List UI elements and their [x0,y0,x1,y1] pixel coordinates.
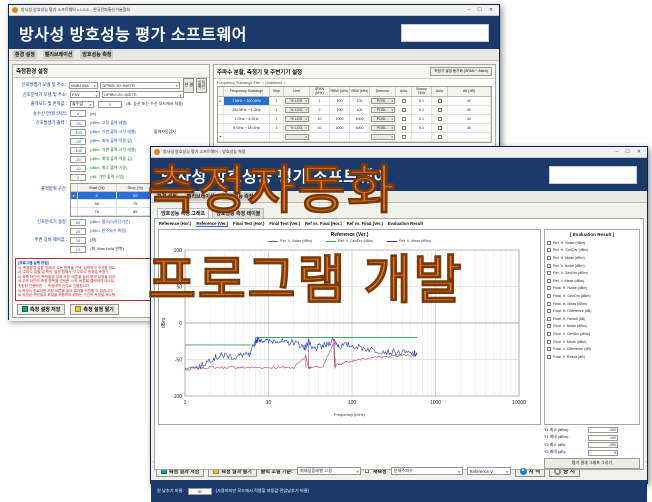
measurement-chart[interactable]: Reference (Ver.) Ref. V_Noise (dBm) Ref.… [158,229,541,425]
power-stepper-6[interactable]: 2 [70,174,86,181]
cell-auto1-checkbox[interactable] [402,117,406,121]
power-note-0: (dBm. 고정 출력 레벨) [90,120,127,126]
open-folder-icon [75,306,81,312]
window1-title-text: 방사성 방호성능 평가 소프트웨어 v.1.0.6 :: 한국전파통신기술협회 [21,7,468,13]
axis-row-y1-max: Y1 최대 (dBm): 100 [544,435,640,441]
cell-rbw: 100 [330,106,350,114]
evaluation-checkbox-row[interactable]: Ref. H. GenDrv (dBm) [547,247,637,255]
evaluation-checkbox[interactable] [547,286,551,290]
play-icon [520,468,527,475]
cell-step: 1 [270,97,284,105]
label-tail-2: 주변 장비 제어값 : [16,237,70,243]
evaluation-checkbox[interactable] [547,241,551,245]
evaluation-checkbox[interactable] [547,302,551,306]
cell-att: 40 [448,106,491,114]
cell-unit-select[interactable] [285,134,309,140]
cell-span: 1 [310,97,330,105]
frequency-range-select[interactable]: 전체주파수 [391,467,463,475]
evaluation-checkbox-row[interactable]: Final. V. Difference (dB) [547,345,637,353]
cell-auto1-checkbox[interactable] [402,99,406,103]
evaluation-checkbox[interactable] [547,264,551,268]
power-stepper-0[interactable]: -20 [70,120,86,127]
evaluation-checkbox-label: Ref. V. Meas (dBm) [553,279,584,283]
open-settings-label: 측정 설정 열기 [83,306,113,313]
header-logo-box [401,24,489,42]
power-note-5: (dBm. 최소 출력 기준) [90,165,127,171]
status-input[interactable]: 30 [188,488,212,495]
tail-note-0: (dBm. 펄스(0)차단기순) [90,219,130,225]
evaluation-checkbox-row[interactable]: Final. H. GenDrv (dBm) [547,292,637,300]
frequency-table-header: Frequency Subrange Step Unit SPAN (kHz) … [218,87,491,97]
header-step: Step [270,87,284,96]
power-stepper-4[interactable]: -20 [70,156,86,163]
range-header-start: Start (%) [78,184,117,191]
subtab-reference-ver[interactable]: Reference (Ver.) [196,221,228,227]
svg-text:50: 50 [176,285,182,291]
cell-unit-select[interactable]: % LOG [285,116,309,122]
output-mode-note: (초. 승산 또는 수신 모드에서 적용) [126,101,183,107]
power-stepper-5[interactable]: -10 [70,165,86,172]
axis-row-y2-min: Y2 최소 (dB): -200 [544,442,640,448]
evaluation-checkbox-row[interactable]: Final. V. GenDrv (dBm) [547,330,637,338]
evaluation-checkbox[interactable] [547,248,551,252]
cell-unit-select[interactable]: % LOG [285,98,309,104]
evaluation-checkbox[interactable] [547,279,551,283]
close-icon[interactable]: ✕ [637,150,641,155]
cell-auto1-checkbox[interactable] [402,135,406,139]
table-row[interactable]: 1 GHz ~ 6 GHz 1 % LOG 10 1000 1000 POSI.… [218,115,491,124]
cell-unit-select[interactable]: % LOG [285,125,309,131]
graph-subtabs[interactable]: Reference (Hor.) Reference (Ver.) Final … [155,219,643,229]
evaluation-checkbox-label: Final. H. Result (dB) [553,317,585,321]
cell-auto2-checkbox[interactable] [438,108,442,112]
svg-text:100: 100 [348,400,357,406]
evaluation-result-panel: [ Evaluation Result ] Ref. H. Noise (dBm… [544,229,640,425]
chart-plot-area: 110100100010000-100-50050100dBm [159,244,527,414]
minimize-icon[interactable]: – [468,8,471,13]
evaluation-checkbox[interactable] [547,309,551,313]
cell-vbw: 1000 [350,124,370,132]
axis-row-y2-max: Y2 최대 (dB): 0 [544,450,640,456]
power-stepper-3[interactable]: -100 [70,147,86,154]
subrange-file-label: Frequency Subrange File: < Undefined > [214,79,495,86]
cell-unit-select[interactable]: % LOG [285,107,309,113]
evaluation-header: [ Evaluation Result ] [547,232,637,237]
label-signal-analyzer: 신호분석기 모델 및 주소: [16,92,70,98]
evaluation-checkbox-row[interactable]: Ref. V. GenDrv (dBm) [547,269,637,277]
power-note-6: (dB. 가변 출력 스텝) [90,174,124,180]
power-stepper-1[interactable]: -100 [70,129,86,136]
tail-note-3: (회. Max Hold 반복) [90,246,124,252]
svg-text:1: 1 [184,400,187,406]
evaluation-checkbox[interactable] [547,294,551,298]
evaluation-checkbox-label: Final. V. Meas (dBm) [553,340,586,344]
signal-generator-model-select[interactable]: SMB100A [69,82,98,89]
status-bar: 원 낮추기 비율: 30 (사용하지만 모드에서 적용할 자동값 전압낮추기 비… [151,480,647,502]
evaluation-checkbox[interactable] [547,340,551,344]
cell-rbw: 100 [330,97,350,105]
header-logo-box [549,166,637,184]
header-unit: Unit [284,87,310,96]
svg-text:0: 0 [179,321,182,327]
cell-att: 40 [448,97,491,105]
evaluation-checkbox[interactable] [547,256,551,260]
signal-generator-address-select[interactable]: GPIB0::30::INSTR [100,82,180,89]
left-panel-title: 측정환경 설정 [13,65,209,78]
subtab-ref-vs-final-hor[interactable]: Ref vs. Final (Hor.) [305,221,342,227]
label-antenna-distance: 송수신 안테나거리: [16,111,70,117]
evaluation-checkbox-label: Ref. H. Noise (dBm) [553,241,585,245]
device-check-button[interactable]: 동작확인 [196,78,207,93]
right-panel-header: 주파수 분할, 측정기 및 주변기기 설정 측정기 설정 동기화 (SPAN ~… [214,65,495,79]
header-att: Att (dB) [448,87,491,96]
cell-rbw: 1000 [330,115,350,123]
evaluation-checkbox-label: Ref. V. GenDrv (dBm) [553,271,588,275]
evaluation-checkbox-label: Final. H. Meas (dBm) [553,302,587,306]
header-auto2: Auto [432,87,448,96]
range-table-header: Start (%) Stop (%) [71,184,155,192]
tail-stepper-2[interactable]: 10 [70,237,86,244]
status-label: 원 낮추기 비율: [157,488,184,494]
evaluation-checkbox-row[interactable]: Final. V. Result (dB) [547,353,637,361]
evaluation-checkbox-label: Final. V. GenDrv (dBm) [553,332,590,336]
tail-stepper-1[interactable]: 20 [70,228,86,235]
cell-span: 10 [310,115,330,123]
evaluation-checkbox-row[interactable]: Final. V. Meas (dBm) [547,338,637,346]
row-antenna-distance: 송수신 안테나거리: 4 (m) [16,110,207,119]
right-panel-title: 주파수 분할, 측정기 및 주변기기 설정 [217,68,302,76]
range-table-row[interactable]: ▸ 0 50 [71,192,155,200]
range-table-row[interactable]: 75 85 [71,208,155,216]
sync-settings-button[interactable]: 측정기 설정 동기화 (SPAN ~ Atten) [430,67,492,76]
evaluation-checkbox-label: Final. H. GenDrv (dBm) [553,294,591,298]
tab-measurement-table[interactable]: 방호성능 측정 테이블 [212,208,264,218]
output-mode-select[interactable]: 홀수값 [70,101,94,108]
label-tail-0: 신호분석기 설정: [16,219,70,225]
subtab-final-test-hor[interactable]: Final Test (Hor.) [233,221,264,227]
label-y1-min: Y1 최소 (dBm): [544,428,588,433]
evaluation-checkbox-row[interactable]: Final. V. Noise (dBm) [547,323,637,331]
range-table-row[interactable]: 50 75 [71,200,155,208]
row-power-1: -100 (dBm. 가변 출력 시작 레벨) 출력자동감지 [16,128,207,136]
row-output-mode: 출력모드 및 반복값 : 홀수값 1 (초. 승산 또는 수신 모드에서 적용) [16,100,207,109]
cell-auto1-checkbox[interactable] [402,126,406,130]
cell-span: 2 [310,106,330,114]
header-auto1: Auto [396,87,412,96]
cell-sweep: 0.1 [412,124,432,132]
label-output-mode: 출력모드 및 반복값 : [16,101,70,107]
output-criteria-select[interactable]: 최대잡음레벨 고정 [297,467,361,475]
maximize-icon[interactable]: ☐ [625,150,629,155]
evaluation-checkbox[interactable] [547,347,551,351]
cell-att: 40 [448,124,491,132]
evaluation-checkbox-row[interactable]: Ref. V. Noise (dBm) [547,262,637,270]
signal-analyzer-address-select[interactable]: GPIB0::20::INSTR [102,91,184,98]
evaluation-checkbox-row[interactable]: Ref. H. Meas (dBm) [547,254,637,262]
power-note-4: (dBm. 최대 출력 적용 값) [90,156,132,162]
evaluation-checkbox[interactable] [547,355,551,359]
row-generator-power-header: 신호발생기 출력 : -20 (dBm. 고정 출력 레벨) [16,119,207,127]
evaluation-checkbox-row[interactable]: Final. H. Result (dB) [547,315,637,323]
reference-select[interactable]: Reference.V [467,467,511,475]
tail-stepper-0[interactable]: 20 [70,219,86,226]
table-row[interactable]: ▸ 1 MHz ~ 200 MHz 1 % LOG 1 100 100 POSI… [218,97,491,106]
header-rbw: RBW (kHz) [330,87,350,96]
cell-vbw: 1000 [350,115,370,123]
window1-header: 방사성 방호성능 평가 소프트웨어 [9,16,499,49]
input-y2-max[interactable]: 0 [588,450,618,456]
remeasure-checkbox[interactable] [365,469,369,473]
cell-detector-select[interactable]: POSI... [371,107,395,113]
menu-item-measurement[interactable]: 방호성능 측정 [222,192,255,201]
evaluation-checkbox-label: Final. V. Result (dB) [553,355,585,359]
app-icon [12,7,18,13]
page-title: 방사성 방호성능 평가 소프트웨어 [19,21,247,45]
cell-detector-select[interactable]: POSI... [371,116,395,122]
svg-text:-100: -100 [172,394,182,400]
window2-titlebar[interactable]: 방사성 방호성능 평가 소프트웨어 :: 방호성능 측정 – ☐ ✕ [151,147,647,158]
header-vbw: VBW (kHz) [350,87,370,96]
legend-item-meas: Ref. V_Meas (dBm) [387,239,431,243]
evaluation-checkbox-row[interactable]: Final. H. Meas (dBm) [547,300,637,308]
chart-xlabel: Frequency (MHz) [159,412,540,417]
cell-sweep: 0.1 [412,115,432,123]
table-row[interactable]: 200 MHz ~ 1 GHz 1 % LOG 2 100 100 POSI..… [218,106,491,115]
window2-header: 방사성 방호성능 평가 소프트웨어 [151,158,647,191]
menu-item-calibration[interactable]: 캘리브레이션 [43,50,75,59]
power-note-3: (dBm. 가변 출력 시작 레벨) [90,147,136,153]
save-settings-label: 측정 설정 저장 [30,306,60,313]
cell-rbw: 1000 [330,124,350,132]
cell-vbw: 100 [350,97,370,105]
tail-note-1: (dBm. 반주파수 측정) [90,228,126,234]
evaluation-checkbox-row[interactable]: Final. H. Difference (dB) [547,307,637,315]
subtab-ref-vs-final-ver[interactable]: Ref vs. Final (Ver.) [347,221,383,227]
cell-step: 1 [270,115,284,123]
cell-att: 40 [448,115,491,123]
frequency-subrange-table[interactable]: Frequency Subrange Step Unit SPAN (kHz) … [217,86,492,143]
measurement-tabs[interactable]: 방호성능 측정 그래프 방호성능 측정 테이블 [154,206,644,218]
page-title: 방사성 방호성능 평가 소프트웨어 [161,163,389,187]
tail-note-2: (회) [90,237,96,243]
svg-text:10: 10 [266,400,272,406]
svg-text:-50: -50 [175,358,182,364]
cell-sweep: 0.1 [412,106,432,114]
cell-detector-select[interactable]: POSI... [371,125,395,131]
power-note-2: (dBm. 최대 출력 적용 값) [90,138,132,144]
menu-item-environment[interactable]: 환경 설정 [13,50,37,59]
evaluation-checkbox-label: Final. V. Noise (dBm) [553,324,587,328]
evaluation-checkbox[interactable] [547,324,551,328]
svg-text:10000: 10000 [512,400,526,406]
svg-text:100: 100 [174,248,183,254]
input-y1-max[interactable]: 100 [588,435,618,441]
measurement-window: 방사성 방호성능 평가 소프트웨어 :: 방호성능 측정 – ☐ ✕ 방사성 방… [150,146,648,484]
evaluation-checkbox-label: Ref. H. GenDrv (dBm) [553,248,588,252]
label-y2-min: Y2 최소 (dB): [544,443,588,448]
range-table[interactable]: Start (%) Stop (%) ▸ 0 50 50 75 [70,183,156,217]
table-row-new[interactable]: ✳ [218,133,491,142]
cell-subrange: 1 GHz ~ 6 GHz [224,115,270,123]
menu-item-environment[interactable]: 환경 설정 [155,192,179,201]
window2-title-text: 방사성 방호성능 평가 소프트웨어 :: 방호성능 측정 [163,149,616,155]
chart-title: Reference (Ver.) [159,230,540,238]
open-settings-button[interactable]: 측정 설정 열기 [70,304,118,315]
label-generator-power: 신호발생기 출력 : [16,120,70,126]
window1-titlebar[interactable]: 방사성 방호성능 평가 소프트웨어 v.1.0.6 :: 한국전파통신기술협회 … [9,5,499,16]
power-note-1: (dBm. 가변 출력 시작 레벨) [90,129,136,135]
legend-item-gendrv: Ref. V_GenDrv (dBm) [326,239,373,243]
header-detector: Detector [370,87,396,96]
menu-item-measurement[interactable]: 방호성능 측정 [80,50,113,59]
label-y2-max: Y2 최대 (dB): [544,450,588,455]
input-y1-min[interactable]: -100 [588,427,618,433]
subtab-evaluation-result[interactable]: Evaluation Result [388,221,423,227]
close-icon[interactable]: ✕ [489,8,493,13]
label-y1-max: Y1 최대 (dBm): [544,435,588,440]
label-range-table: 출력범위 구간: [16,183,70,192]
evaluation-checkbox[interactable] [547,332,551,336]
window2-menubar[interactable]: 환경 설정 캘리브레이션 방호성능 측정 [151,191,647,203]
cell-auto2-checkbox[interactable] [438,99,442,103]
connect-button[interactable]: 연 결 [183,78,194,93]
svg-text:1000: 1000 [430,400,441,406]
row-signal-generator: 신호발생기 모델 및 주소: SMB100A GPIB0::30::INSTR … [16,81,207,90]
subtab-reference-hor[interactable]: Reference (Hor.) [159,221,191,227]
axis-settings: Y1 최소 (dBm): -100 Y1 최대 (dBm): 100 Y2 최소… [541,425,643,456]
cell-step: 1 [270,106,284,114]
menu-item-calibration[interactable]: 캘리브레이션 [185,192,217,201]
label-signal-generator: 신호발생기 모델 및 주소: [16,82,69,88]
header-sweep: Sweep Time [412,87,432,96]
save-icon [22,306,28,312]
legend-item-noise: Ref. V_Noise (dBm) [268,239,312,243]
row-power-2: -20 (dBm. 최대 출력 적용 값) [16,137,207,145]
tail-stepper-3[interactable]: 10 [70,246,86,253]
status-note: (사용하지만 모드에서 적용할 자동값 전압낮추기 비율) [216,488,309,494]
cell-auto2-checkbox[interactable] [438,135,442,139]
save-settings-button[interactable]: 측정 설정 저장 [17,304,65,315]
evaluation-checkbox[interactable] [547,271,551,275]
cell-subrange: 6 GHz ~ 18 GHz [224,124,270,132]
row-signal-analyzer: 신호분석기 모델 및 주소: FSV GPIB0::20::INSTR [16,91,207,100]
cell-detector-select[interactable]: POSI... [371,98,395,104]
cell-auto2-checkbox[interactable] [438,126,442,130]
header-subrange: Frequency Subrange [224,87,270,96]
range-start-2: 75 [78,208,117,215]
cell-auto1-checkbox[interactable] [402,108,406,112]
range-start-0: 0 [78,192,117,199]
table-row[interactable]: 6 GHz ~ 18 GHz 1 % LOG 10 1000 1000 POSI… [218,124,491,133]
evaluation-checkbox-row[interactable]: Final. H. Noise (dBm) [547,285,637,293]
evaluation-checkbox-label: Final. H. Difference (dB) [553,309,591,313]
evaluation-checkbox-label: Ref. V. Noise (dBm) [553,264,585,268]
svg-text:dBm: dBm [161,318,167,328]
minimize-icon[interactable]: – [616,150,619,155]
signal-analyzer-model-select[interactable]: FSV [70,91,100,98]
stop-icon [554,468,561,475]
cell-auto2-checkbox[interactable] [438,117,442,121]
evaluation-checkbox-list[interactable]: Ref. H. Noise (dBm)Ref. H. GenDrv (dBm)R… [547,239,637,361]
header-span: SPAN (kHz) [310,87,330,96]
cell-span: 10 [310,124,330,132]
bracket-note: 출력자동감지 [154,129,176,135]
evaluation-checkbox-label: Final. H. Noise (dBm) [553,286,587,290]
antenna-distance-stepper[interactable]: 4 [70,110,86,117]
evaluation-checkbox[interactable] [547,317,551,321]
cell-vbw: 100 [350,106,370,114]
app-icon [154,149,160,155]
cell-subrange: 1 MHz ~ 200 MHz [224,97,270,105]
evaluation-checkbox-row[interactable]: Ref. V. Meas (dBm) [547,277,637,285]
cell-step: 1 [270,124,284,132]
redraw-chart-button[interactable]: 평가 결과 그래프 그리기 [544,458,640,469]
axis-row-y1-min: Y1 최소 (dBm): -100 [544,427,640,433]
repeat-count-stepper[interactable]: 1 [98,101,122,108]
tab-measurement-graph[interactable]: 방호성능 측정 그래프 [157,208,209,218]
cell-subrange: 200 MHz ~ 1 GHz [224,106,270,114]
evaluation-checkbox-label: Ref. H. Meas (dBm) [553,256,585,260]
range-start-1: 50 [78,200,117,207]
evaluation-checkbox-label: Final. V. Difference (dB) [553,347,591,351]
input-y2-min[interactable]: -200 [588,442,618,448]
antenna-distance-unit: (m) [90,111,96,116]
cell-detector-select[interactable] [371,134,395,140]
subtab-final-test-ver[interactable]: Final Test (Ver.) [269,221,300,227]
cell-sweep: 0.1 [412,97,432,105]
power-stepper-2[interactable]: -20 [70,138,86,145]
window1-menubar[interactable]: 환경 설정 캘리브레이션 방호성능 측정 [9,49,499,61]
maximize-icon[interactable]: ☐ [477,8,481,13]
evaluation-checkbox-row[interactable]: Ref. H. Noise (dBm) [547,239,637,247]
